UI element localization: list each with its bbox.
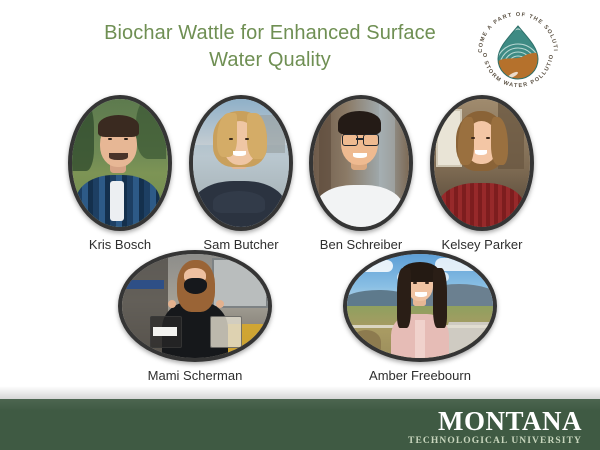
portrait-sam-butcher [193,99,289,227]
team-member-card: Mami Scherman [110,250,280,383]
portrait-mami-scherman [122,254,268,358]
avatar [189,95,293,231]
avatar [68,95,172,231]
portrait-kelsey-parker [434,99,530,227]
footer-shadow [0,386,600,399]
university-subtitle: TECHNOLOGICAL UNIVERSITY [408,435,582,447]
team-member-card: Sam Butcher [184,95,298,252]
avatar [309,95,413,231]
team-member-card: Ben Schreiber [303,95,419,252]
portrait-amber-freebourn [347,254,493,358]
avatar [430,95,534,231]
portrait-ben-schreiber [313,99,409,227]
team-member-card: Kris Bosch [63,95,177,252]
avatar [118,250,272,362]
university-name: MONTANA [408,407,582,435]
montana-tech-logo: MONTANA TECHNOLOGICAL UNIVERSITY [408,407,582,447]
page-title-line-1: Biochar Wattle for Enhanced Surface [60,20,480,47]
team-row-1: Kris Bosch Sam Butc [0,95,600,250]
stormwater-badge-icon: BECOME A PART OF THE SOLUTION TO STORM W… [472,6,564,98]
team-member-card: Kelsey Parker [424,95,540,252]
team-member-name: Amber Freebourn [330,368,510,383]
page-title-line-2: Water Quality [60,47,480,74]
avatar [343,250,497,362]
footer-band: MONTANA TECHNOLOGICAL UNIVERSITY [0,399,600,450]
team-member-name: Mami Scherman [110,368,280,383]
slide-canvas: Biochar Wattle for Enhanced Surface Wate… [0,0,600,450]
portrait-kris-bosch [72,99,168,227]
team-row-2: Mami Scherman [0,250,600,395]
team-member-card: Amber Freebourn [330,250,510,383]
page-title: Biochar Wattle for Enhanced Surface Wate… [60,20,480,74]
